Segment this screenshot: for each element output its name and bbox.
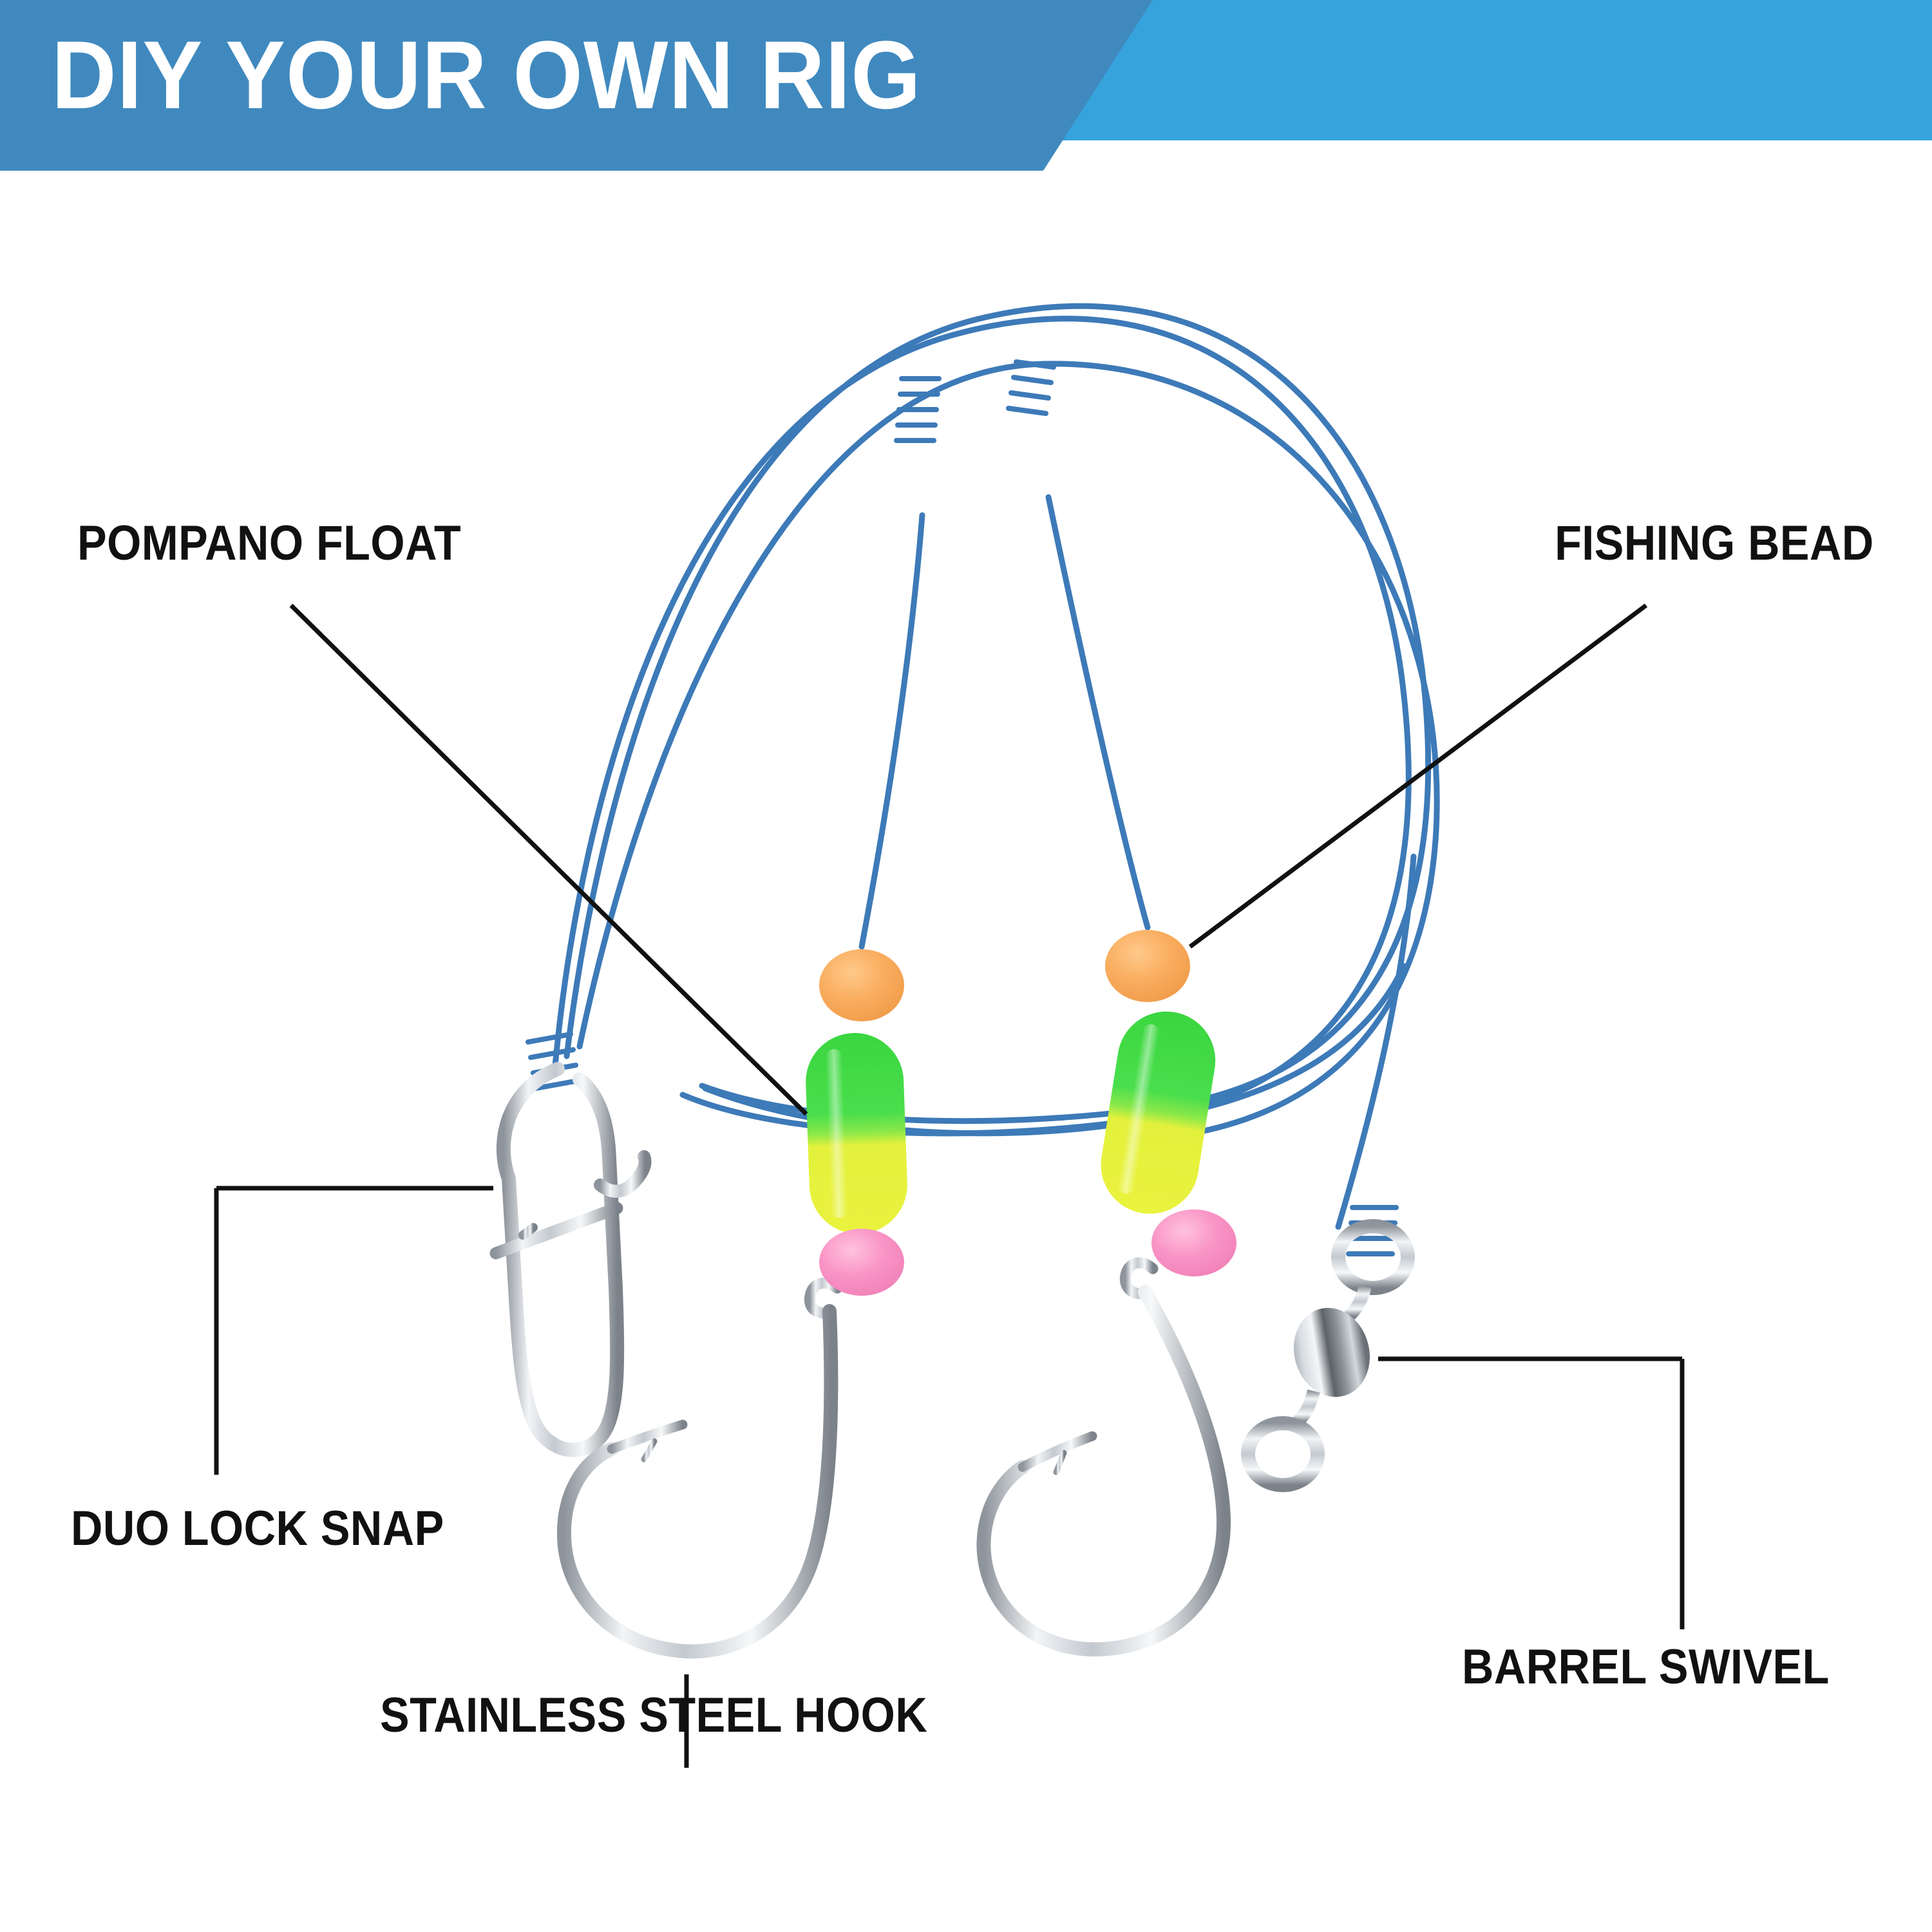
hook-1-point <box>612 1425 683 1449</box>
label-fishing-bead: FISHING BEAD <box>1555 515 1874 571</box>
knot-dropper-2 <box>1009 362 1054 413</box>
dropper-line-2 <box>1048 497 1148 927</box>
fishing-bead-pink-1 <box>819 1229 904 1296</box>
swivel-barrel-body <box>1283 1299 1380 1406</box>
fishing-line <box>542 306 1437 1227</box>
swivel-eye-top <box>1338 1226 1408 1288</box>
stainless-steel-hook-2 <box>983 1263 1224 1649</box>
label-stainless-steel-hook: STAINLESS STEEL HOOK <box>380 1687 927 1743</box>
fishing-bead-pink-2 <box>1151 1209 1236 1276</box>
fishing-bead-orange-1 <box>819 949 904 1021</box>
knot-dropper-1 <box>896 379 939 440</box>
label-barrel-swivel: BARREL SWIVEL <box>1462 1639 1830 1695</box>
callout-leaders <box>216 605 1682 1768</box>
hook-2-barb <box>1056 1453 1064 1472</box>
barrel-swivel <box>1248 1226 1408 1485</box>
stainless-steel-hook-1 <box>564 1283 837 1651</box>
swivel-eye-bottom <box>1248 1423 1318 1485</box>
leader-barrel-swivel <box>1378 1359 1682 1629</box>
hook-1-barb <box>644 1441 654 1459</box>
leader-duo-lock-snap <box>216 1188 493 1475</box>
float-assembly-1 <box>804 949 909 1296</box>
hook-1-shank-bend <box>564 1311 831 1651</box>
line-arc-cross <box>580 364 1437 1139</box>
fishing-bead-orange-2 <box>1105 930 1190 1002</box>
dropper-line-1 <box>862 515 922 947</box>
duo-lock-snap <box>496 1069 645 1450</box>
diagram-canvas: DIY YOUR OWN RIG <box>0 0 1932 1932</box>
label-duo-lock-snap: DUO LOCK SNAP <box>71 1501 444 1557</box>
label-pompano-float: POMPANO FLOAT <box>77 515 461 571</box>
pompano-float-1 <box>804 1031 909 1235</box>
line-to-swivel <box>1338 857 1414 1227</box>
